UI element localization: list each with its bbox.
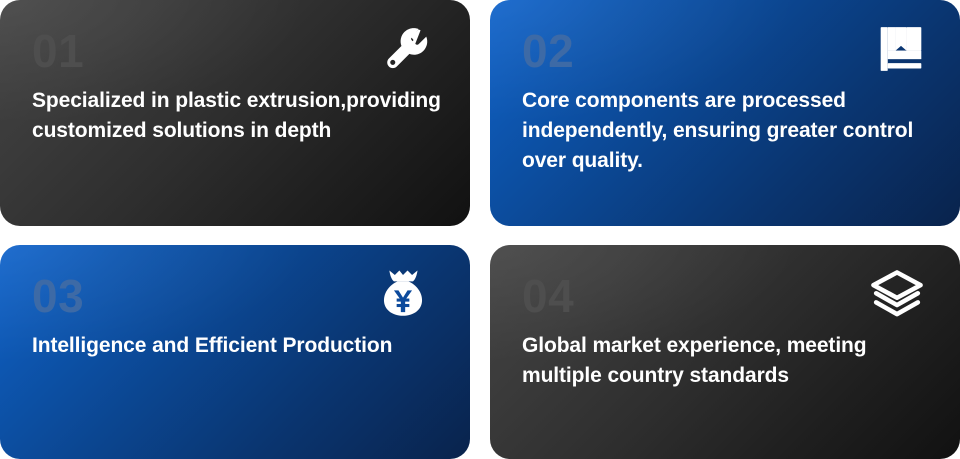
card-number: 02 [522, 28, 934, 74]
feature-card-02[interactable]: 02 Core components are processed indepen… [490, 0, 960, 226]
feature-card-01[interactable]: 01 Specialized in plastic extrusion,prov… [0, 0, 470, 226]
card-text: Global market experience, meeting multip… [522, 331, 934, 391]
book-bookmark-icon [876, 24, 926, 74]
feature-card-04[interactable]: 04 Global market experience, meeting mul… [490, 245, 960, 459]
layers-stack-icon [868, 267, 926, 325]
card-text: Intelligence and Efficient Production [32, 331, 432, 361]
feature-card-grid: 01 Specialized in plastic extrusion,prov… [0, 0, 960, 459]
card-text: Core components are processed independen… [522, 86, 934, 175]
feature-card-03[interactable]: 03 Intelligence and Efficient Production [0, 245, 470, 459]
money-bag-yen-icon [374, 265, 432, 323]
card-text: Specialized in plastic extrusion,providi… [32, 86, 444, 146]
wrench-icon [378, 24, 432, 78]
